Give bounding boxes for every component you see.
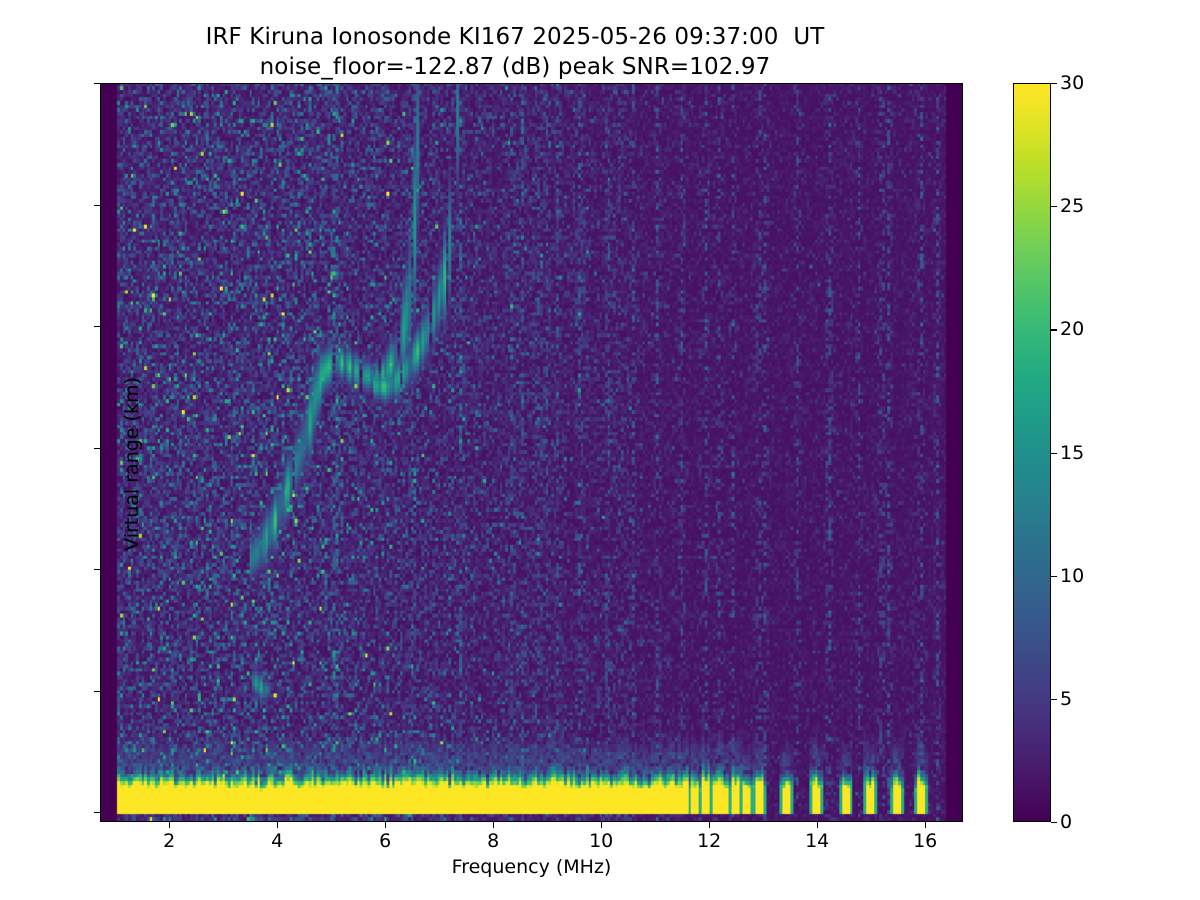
colorbar-tick-label: 25	[1060, 195, 1120, 217]
x-tick-mark	[493, 822, 494, 828]
x-tick-label: 2	[129, 830, 209, 852]
title-line-1: IRF Kiruna Ionosonde KI167 2025-05-26 09…	[0, 22, 1030, 52]
x-tick-label: 14	[777, 830, 857, 852]
x-axis-label: Frequency (MHz)	[100, 856, 963, 878]
colorbar-tick-label: 5	[1060, 688, 1120, 710]
ionogram-figure: IRF Kiruna Ionosonde KI167 2025-05-26 09…	[0, 0, 1200, 900]
colorbar	[1013, 83, 1051, 822]
y-tick-mark	[94, 569, 100, 570]
x-tick-mark	[169, 822, 170, 828]
colorbar-tick-mark	[1051, 822, 1057, 823]
colorbar-gradient	[1014, 84, 1050, 821]
figure-title: IRF Kiruna Ionosonde KI167 2025-05-26 09…	[0, 22, 1030, 82]
colorbar-tick-mark	[1051, 699, 1057, 700]
y-axis-label: Virtual range (km)	[121, 324, 143, 604]
y-tick-mark	[94, 812, 100, 813]
y-tick-mark	[94, 326, 100, 327]
x-tick-label: 16	[885, 830, 965, 852]
x-tick-mark	[385, 822, 386, 828]
x-tick-label: 8	[453, 830, 533, 852]
colorbar-tick-mark	[1051, 453, 1057, 454]
ionogram-heatmap	[101, 84, 962, 821]
x-tick-label: 4	[237, 830, 317, 852]
x-tick-mark	[817, 822, 818, 828]
x-tick-mark	[709, 822, 710, 828]
ionogram-plot-area	[100, 83, 963, 822]
colorbar-tick-mark	[1051, 206, 1057, 207]
colorbar-tick-mark	[1051, 576, 1057, 577]
x-tick-label: 12	[669, 830, 749, 852]
colorbar-tick-label: 15	[1060, 442, 1120, 464]
y-tick-mark	[94, 83, 100, 84]
y-tick-mark	[94, 448, 100, 449]
colorbar-tick-mark	[1051, 329, 1057, 330]
y-tick-mark	[94, 205, 100, 206]
colorbar-tick-label: 10	[1060, 565, 1120, 587]
x-tick-mark	[925, 822, 926, 828]
x-tick-label: 6	[345, 830, 425, 852]
colorbar-tick-label: 0	[1060, 811, 1120, 833]
colorbar-tick-mark	[1051, 83, 1057, 84]
x-tick-mark	[277, 822, 278, 828]
x-tick-mark	[601, 822, 602, 828]
colorbar-tick-label: 30	[1060, 72, 1120, 94]
colorbar-tick-label: 20	[1060, 318, 1120, 340]
title-line-2: noise_floor=-122.87 (dB) peak SNR=102.97	[0, 52, 1030, 82]
x-tick-label: 10	[561, 830, 641, 852]
y-tick-mark	[94, 691, 100, 692]
